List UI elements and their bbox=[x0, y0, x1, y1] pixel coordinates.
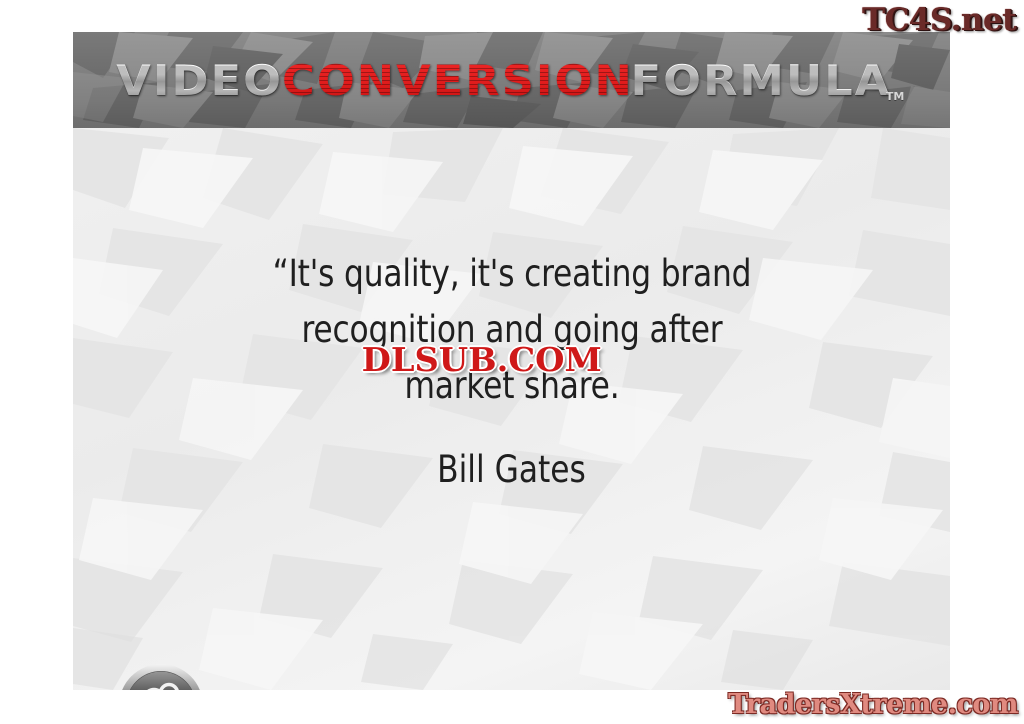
watermark-tc4s: TC4S.net bbox=[862, 2, 1016, 38]
product-logo: VIDEO CONVERSION FORMULA TM bbox=[73, 32, 950, 128]
logo-word-video: VIDEO bbox=[116, 56, 283, 105]
quote-text: “It's quality, it's creating brand recog… bbox=[248, 246, 774, 414]
logo-word-conversion: CONVERSION bbox=[282, 56, 634, 105]
watermark-dlsub: DLSUB.COM bbox=[362, 340, 602, 379]
quote-author: Bill Gates bbox=[99, 442, 923, 498]
users-badge bbox=[118, 663, 204, 690]
trademark-symbol: TM bbox=[886, 90, 904, 103]
watermark-tradersxtreme: TradersXtreme.com bbox=[728, 689, 1018, 720]
slide-body: “It's quality, it's creating brand recog… bbox=[73, 128, 950, 690]
logo-word-formula: FORMULA bbox=[631, 56, 892, 105]
slide-header-band: VIDEO CONVERSION FORMULA TM bbox=[73, 32, 950, 128]
users-icon bbox=[118, 663, 204, 690]
